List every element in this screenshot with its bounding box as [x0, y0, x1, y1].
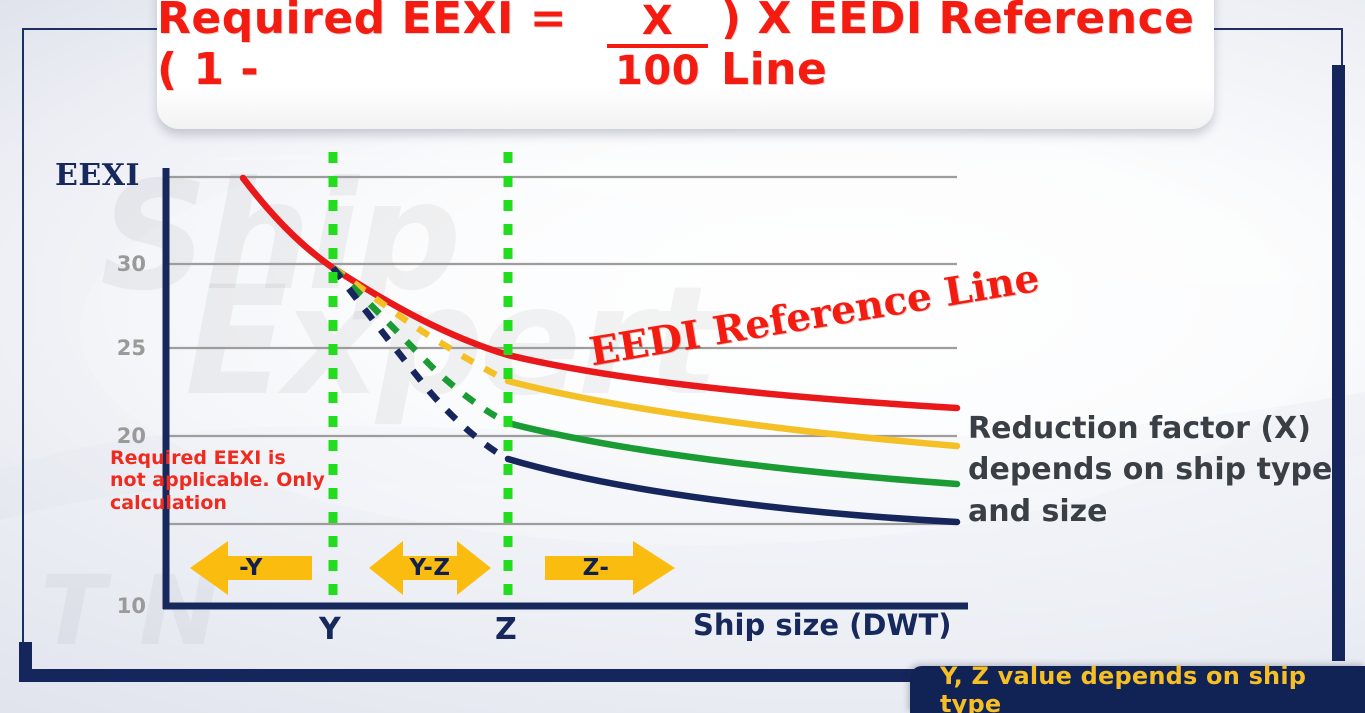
formula-prefix: Required EEXI = ( 1 -: [157, 0, 594, 95]
formula-card: Required EEXI = ( 1 - X 100 ) X EEDI Ref…: [157, 0, 1214, 129]
range-arrows-row: -Y Y-Z Z-: [0, 537, 1365, 601]
range-arrow-label-before-y: -Y: [190, 539, 312, 597]
formula-expression: Required EEXI = ( 1 - X 100 ) X EEDI Ref…: [157, 0, 1214, 129]
formula-suffix: ) X EEDI Reference Line: [721, 0, 1214, 95]
range-arrow-label-y-to-z: Y-Z: [369, 539, 491, 597]
y-tick-25: 25: [98, 336, 146, 360]
footer-banner: Y, Z value depends on ship type: [910, 666, 1365, 713]
formula-denominator: 100: [607, 48, 708, 91]
y-tick-20: 20: [98, 424, 146, 448]
range-arrow-label-after-z: Z-: [545, 539, 675, 597]
footer-banner-text: Y, Z value depends on ship type: [910, 662, 1365, 713]
x-tick-y: Y: [319, 612, 341, 647]
range-arrow-after-z: Z-: [545, 539, 675, 597]
x-axis-title: Ship size (DWT): [693, 608, 952, 642]
range-arrow-before-y: -Y: [190, 539, 312, 597]
annotation-reduction-factor: Reduction factor (X) depends on ship typ…: [968, 408, 1358, 532]
range-arrow-y-to-z: Y-Z: [369, 539, 491, 597]
y-tick-30: 30: [98, 252, 146, 276]
formula-fraction: X 100: [607, 1, 708, 91]
curve-required-eexi-yellow-dashed: [333, 268, 508, 381]
annotation-not-applicable: Required EEXI is not applicable. Only ca…: [110, 447, 325, 514]
x-tick-z: Z: [495, 612, 517, 647]
slide-canvas: Ship Expert T N: [0, 0, 1365, 713]
formula-numerator: X: [632, 1, 683, 44]
y-axis-title: EEXI: [55, 158, 140, 193]
curve-required-eexi-navy-solid: [508, 459, 957, 522]
